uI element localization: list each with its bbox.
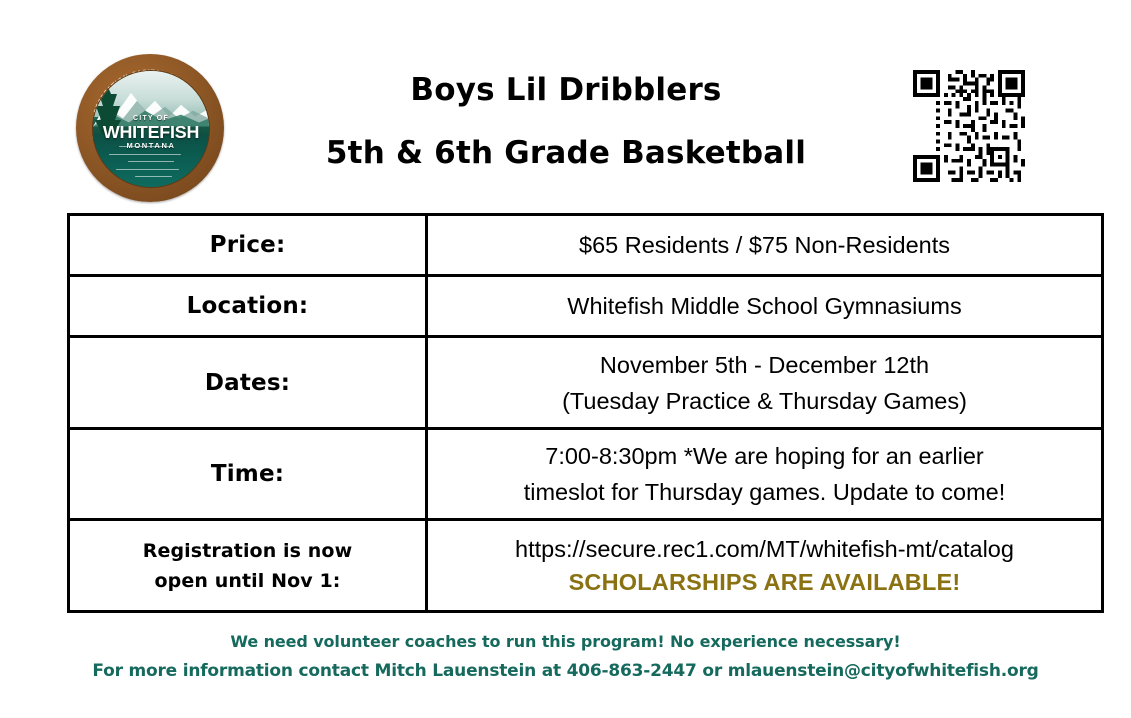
registration-url-link[interactable]: https://secure.rec1.com/MT/whitefish-mt/… xyxy=(436,533,1093,566)
page-subtitle: 5th & 6th Grade Basketball xyxy=(236,133,896,173)
logo-montana-label: MONTANA xyxy=(93,141,209,150)
flyer-title-block: Boys Lil Dribblers 5th & 6th Grade Baske… xyxy=(236,70,896,173)
location-value: Whitefish Middle School Gymnasiums xyxy=(436,288,1093,324)
row-label-time: Time: xyxy=(69,429,427,520)
time-label: Time: xyxy=(78,459,417,489)
qr-code-graphic xyxy=(913,70,1025,182)
flyer-header: RECREATION CAPITAL OF MONTANA PARKS & RE… xyxy=(0,0,1131,213)
row-value-price: $65 Residents / $75 Non-Residents xyxy=(427,215,1103,276)
logo-scene: CITY OF WHITEFISH MONTANA xyxy=(92,70,210,188)
table-row: Location: Whitefish Middle School Gymnas… xyxy=(69,276,1103,337)
table-row: Dates: November 5th - December 12th (Tue… xyxy=(69,337,1103,429)
registration-label-line1: Registration is now xyxy=(78,536,417,566)
footer-contact-info: For more information contact Mitch Lauen… xyxy=(0,656,1131,686)
row-label-dates: Dates: xyxy=(69,337,427,429)
location-label: Location: xyxy=(78,291,417,321)
time-value-line1: 7:00-8:30pm *We are hoping for an earlie… xyxy=(436,438,1093,474)
dates-value-line2: (Tuesday Practice & Thursday Games) xyxy=(436,383,1093,419)
table-row: Time: 7:00-8:30pm *We are hoping for an … xyxy=(69,429,1103,520)
dates-label: Dates: xyxy=(78,368,417,398)
page-title: Boys Lil Dribblers xyxy=(236,70,896,110)
row-value-dates: November 5th - December 12th (Tuesday Pr… xyxy=(427,337,1103,429)
scholarships-notice: SCHOLARSHIPS ARE AVAILABLE! xyxy=(436,566,1093,599)
footer-volunteer-note: We need volunteer coaches to run this pr… xyxy=(0,628,1131,656)
row-value-time: 7:00-8:30pm *We are hoping for an earlie… xyxy=(427,429,1103,520)
price-value: $65 Residents / $75 Non-Residents xyxy=(436,227,1093,263)
qr-code-icon[interactable] xyxy=(913,70,1025,182)
flyer-footer: We need volunteer coaches to run this pr… xyxy=(0,628,1131,686)
registration-label-line2: open until Nov 1: xyxy=(78,566,417,596)
logo-whitefish-label: WHITEFISH xyxy=(92,122,210,143)
row-label-registration: Registration is now open until Nov 1: xyxy=(69,520,427,612)
price-label: Price: xyxy=(78,230,417,260)
table-row: Price: $65 Residents / $75 Non-Residents xyxy=(69,215,1103,276)
logo-city-of-label: CITY OF xyxy=(93,115,209,122)
row-value-location: Whitefish Middle School Gymnasiums xyxy=(427,276,1103,337)
whitefish-parks-recreation-logo: RECREATION CAPITAL OF MONTANA PARKS & RE… xyxy=(76,54,224,202)
time-value-line2: timeslot for Thursday games. Update to c… xyxy=(436,474,1093,510)
row-value-registration: https://secure.rec1.com/MT/whitefish-mt/… xyxy=(427,520,1103,612)
dates-value-line1: November 5th - December 12th xyxy=(436,347,1093,383)
row-label-location: Location: xyxy=(69,276,427,337)
row-label-price: Price: xyxy=(69,215,427,276)
table-row: Registration is now open until Nov 1: ht… xyxy=(69,520,1103,612)
program-info-table: Price: $65 Residents / $75 Non-Residents… xyxy=(67,213,1104,613)
